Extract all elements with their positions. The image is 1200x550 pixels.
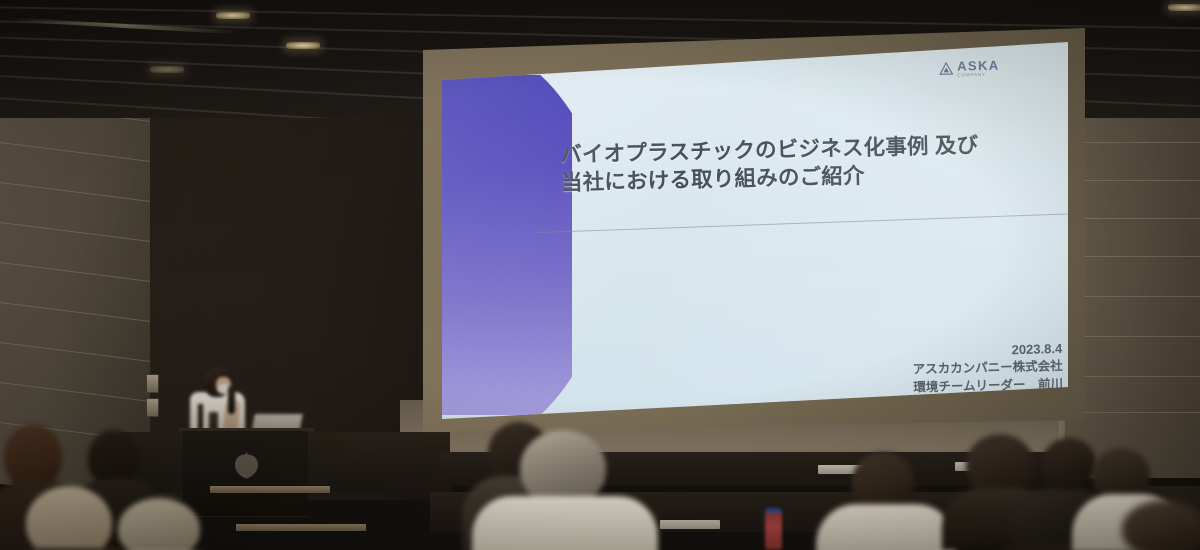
- aska-triangle-icon: [939, 62, 953, 76]
- slide-title: バイオプラスチックのビジネス化事例 及び 当社における取り組みのご紹介: [560, 131, 1041, 198]
- aska-wordmark: ASKA COMPANY: [957, 59, 1000, 79]
- handheld-microphone: [228, 386, 235, 414]
- desk-surface-left: [210, 486, 330, 493]
- ceiling-downlight-4: [150, 66, 184, 73]
- projection-screen[interactable]: ASKA COMPANY バイオプラスチックのビジネス化事例 及び 当社における…: [442, 42, 1068, 419]
- aska-wordmark-main: ASKA: [957, 59, 1000, 73]
- auditorium-photo: ASKA COMPANY バイオプラスチックのビジネス化事例 及び 当社における…: [0, 0, 1200, 550]
- hall-emblem-icon: [233, 450, 260, 480]
- wall-switch-plate-2: [146, 398, 159, 417]
- slide-accent-panel: [442, 75, 572, 415]
- aska-wordmark-sub: COMPANY: [957, 73, 1000, 79]
- red-water-bottle: [765, 508, 782, 550]
- slide-divider: [538, 213, 1068, 233]
- desk-surface-left-2: [236, 524, 366, 531]
- wall-switch-plate-1: [146, 374, 159, 393]
- ceiling-downlight-3: [1168, 4, 1200, 11]
- ceiling-downlight-1: [216, 12, 250, 19]
- ceiling-downlight-2: [286, 42, 320, 49]
- slide: ASKA COMPANY バイオプラスチックのビジネス化事例 及び 当社における…: [442, 42, 1068, 419]
- seat-name-plate: [660, 520, 720, 529]
- aska-logo: ASKA COMPANY: [939, 59, 1000, 79]
